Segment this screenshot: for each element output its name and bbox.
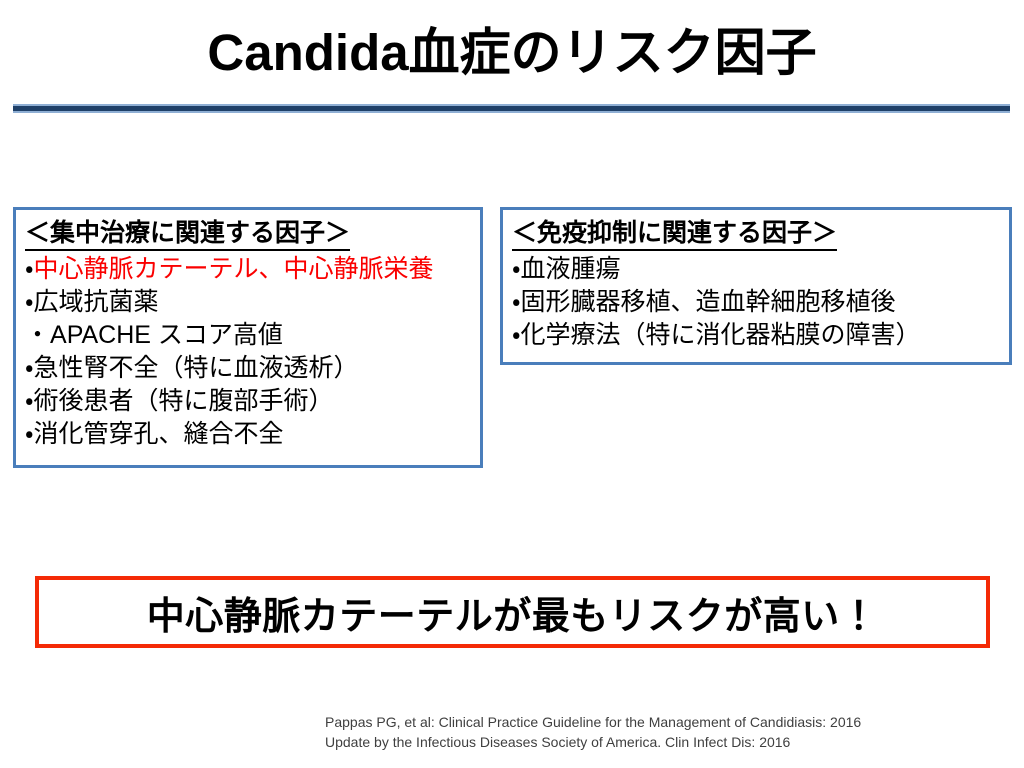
bullet-mark: ・ — [25, 387, 34, 415]
citation-line-2: Update by the Infectious Diseases Societ… — [325, 732, 1005, 752]
bullet-mark: ・ — [25, 321, 50, 349]
emphasis-banner: 中心静脈カテーテルが最もリスクが高い！ — [35, 576, 990, 648]
list-item-label: 化学療法（特に消化器粘膜の障害） — [521, 321, 921, 349]
bullet-mark: ・ — [512, 321, 521, 349]
factor-box-icu: ＜集中治療に関連する因子＞ ・中心静脈カテーテル、中心静脈栄養 ・広域抗菌薬 ・… — [13, 207, 483, 468]
citation: Pappas PG, et al: Clinical Practice Guid… — [325, 712, 1005, 752]
bullet-mark: ・ — [25, 255, 34, 283]
factor-box-immunosuppression-inner: ＜免疫抑制に関連する因子＞ ・血液腫瘍 ・固形臓器移植、造血幹細胞移植後 ・化学… — [503, 210, 1009, 352]
slide-canvas: Candida血症のリスク因子 ＜集中治療に関連する因子＞ ・中心静脈カテーテル… — [0, 0, 1024, 768]
list-item: ・APACHE スコア高値 — [25, 319, 480, 352]
list-item: ・術後患者（特に腹部手術） — [25, 385, 480, 418]
bullet-mark: ・ — [512, 288, 521, 316]
factor-box-immunosuppression-heading: ＜免疫抑制に関連する因子＞ — [512, 219, 837, 251]
factor-box-icu-inner: ＜集中治療に関連する因子＞ ・中心静脈カテーテル、中心静脈栄養 ・広域抗菌薬 ・… — [16, 210, 480, 451]
list-item: ・血液腫瘍 — [512, 253, 1009, 286]
list-item: ・急性腎不全（特に血液透析） — [25, 352, 480, 385]
list-item: ・広域抗菌薬 — [25, 286, 480, 319]
page-title: Candida血症のリスク因子 — [0, 24, 1024, 83]
list-item: ・消化管穿孔、縫合不全 — [25, 418, 480, 451]
factor-box-icu-heading: ＜集中治療に関連する因子＞ — [25, 219, 350, 251]
list-item-label: 血液腫瘍 — [521, 255, 621, 283]
list-item-label: 急性腎不全（特に血液透析） — [34, 354, 359, 382]
list-item-label: 広域抗菌薬 — [34, 288, 159, 316]
list-item: ・化学療法（特に消化器粘膜の障害） — [512, 319, 1009, 352]
list-item-label: 中心静脈カテーテル、中心静脈栄養 — [34, 255, 434, 283]
list-item-label: 消化管穿孔、縫合不全 — [34, 420, 284, 448]
title-divider-rule — [13, 104, 1010, 113]
bullet-mark: ・ — [25, 420, 34, 448]
bullet-mark: ・ — [25, 288, 34, 316]
emphasis-banner-text: 中心静脈カテーテルが最もリスクが高い！ — [147, 585, 879, 640]
list-item-label: 固形臓器移植、造血幹細胞移植後 — [521, 288, 896, 316]
list-item: ・中心静脈カテーテル、中心静脈栄養 — [25, 253, 480, 286]
list-item-label: 術後患者（特に腹部手術） — [34, 387, 334, 415]
citation-line-1: Pappas PG, et al: Clinical Practice Guid… — [325, 712, 1005, 732]
factor-list-icu: ・中心静脈カテーテル、中心静脈栄養 ・広域抗菌薬 ・APACHE スコア高値 ・… — [25, 253, 480, 451]
list-item-label: APACHE スコア高値 — [50, 321, 283, 349]
factor-list-immunosuppression: ・血液腫瘍 ・固形臓器移植、造血幹細胞移植後 ・化学療法（特に消化器粘膜の障害） — [512, 253, 1009, 352]
factor-box-immunosuppression: ＜免疫抑制に関連する因子＞ ・血液腫瘍 ・固形臓器移植、造血幹細胞移植後 ・化学… — [500, 207, 1012, 365]
list-item: ・固形臓器移植、造血幹細胞移植後 — [512, 286, 1009, 319]
bullet-mark: ・ — [25, 354, 34, 382]
bullet-mark: ・ — [512, 255, 521, 283]
